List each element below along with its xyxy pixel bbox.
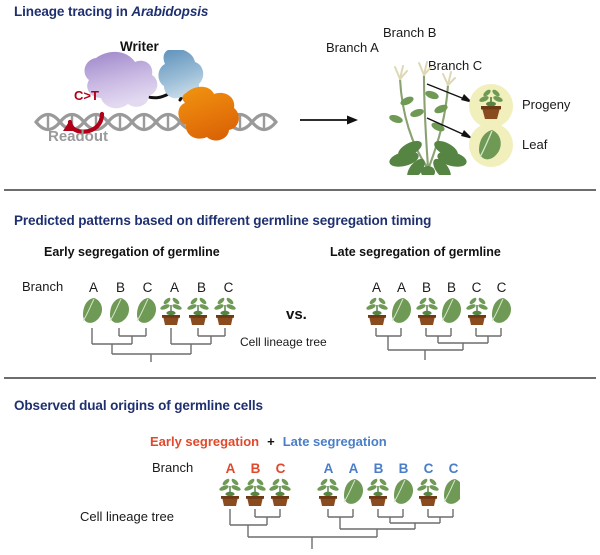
panel1-title: Lineage tracing in Arabidopsis (14, 4, 208, 19)
branch-letter-early: B (243, 461, 268, 476)
panel3-tree-label: Cell lineage tree (80, 509, 174, 524)
sample-plant (466, 297, 489, 325)
sample-plant (367, 478, 390, 506)
panel3-samples-and-tree (210, 475, 460, 555)
sample-leaf (444, 479, 460, 504)
sample-plant (244, 478, 267, 506)
legend-plus: + (259, 434, 283, 449)
panel2-title: Predicted patterns based on different ge… (14, 213, 431, 228)
branch-b-label: Branch B (383, 25, 436, 40)
legend-early-segregation: Early segregation (150, 434, 259, 449)
panel-lineage-tracing: Lineage tracing in Arabidopsis Writer (0, 0, 600, 190)
sample-leaf (83, 298, 102, 323)
ct-edit-label: C>T (74, 88, 99, 103)
sample-plant (187, 297, 210, 325)
panel1-title-italic: Arabidopsis (131, 4, 208, 19)
orange-polymerase-blob (178, 87, 238, 141)
process-arrow-icon (300, 112, 360, 128)
branch-letter: B (107, 280, 134, 295)
sample-leaf (442, 298, 461, 323)
panel-predicted-patterns: Predicted patterns based on different ge… (0, 190, 600, 377)
sample-leaf (110, 298, 129, 323)
branch-letter: C (134, 280, 161, 295)
sample-plant (269, 478, 292, 506)
sample-plant (219, 478, 242, 506)
panel2-tree-label: Cell lineage tree (240, 335, 327, 349)
branch-a-label: Branch A (326, 40, 379, 55)
panel2-branch-label: Branch (22, 279, 63, 294)
sample-leaf (344, 479, 363, 504)
leaf-label: Leaf (522, 137, 547, 152)
panel3-title: Observed dual origins of germline cells (14, 398, 263, 413)
panel2-right-heading: Late segregation of germline (330, 245, 501, 259)
branch-letter: A (161, 280, 188, 295)
sample-plant (214, 297, 237, 325)
sample-plant (317, 478, 340, 506)
lineage-tree-lines (92, 328, 225, 362)
branch-letter-early: C (268, 461, 293, 476)
panel3-branch-label: Branch (152, 460, 193, 475)
panel2-right-samples-and-tree (364, 294, 524, 366)
vs-label: vs. (286, 306, 307, 323)
branch-letter-late: C (416, 461, 441, 476)
readout-label: Readout (48, 128, 108, 145)
branch-letter-late: A (316, 461, 341, 476)
panel2-left-samples-and-tree (80, 294, 248, 366)
panel-observed-dual-origins: Observed dual origins of germline cells … (0, 378, 600, 555)
legend-late-segregation: Late segregation (283, 434, 387, 449)
leaf-callout-icon (468, 122, 514, 168)
sample-plant (366, 297, 389, 325)
branch-letter: B (414, 280, 439, 295)
branch-letter: A (364, 280, 389, 295)
lineage-tree-lines (230, 509, 453, 549)
panel2-left-heading: Early segregation of germline (44, 245, 220, 259)
sample-plant (160, 297, 183, 325)
sample-leaf (392, 298, 411, 323)
sample-leaf (492, 298, 511, 323)
panel3-legend: Early segregation+Late segregation (150, 434, 387, 449)
sample-plant (416, 297, 439, 325)
branch-letter-late: B (366, 461, 391, 476)
branch-letter: A (80, 280, 107, 295)
branch-letter: C (215, 280, 242, 295)
progeny-label: Progeny (522, 97, 570, 112)
panel1-title-prefix: Lineage tracing in (14, 4, 131, 19)
branch-letter-late: A (341, 461, 366, 476)
sample-plant (417, 478, 440, 506)
lineage-tree-lines (376, 328, 501, 360)
branch-letter: B (439, 280, 464, 295)
branch-letter: C (489, 280, 514, 295)
sample-leaf (394, 479, 413, 504)
branch-letter-early: A (218, 461, 243, 476)
branch-letter: B (188, 280, 215, 295)
branch-letter-late: B (391, 461, 416, 476)
branch-letter: C (464, 280, 489, 295)
branch-letter: A (389, 280, 414, 295)
sample-leaf (137, 298, 156, 323)
branch-letter-late: C (441, 461, 466, 476)
